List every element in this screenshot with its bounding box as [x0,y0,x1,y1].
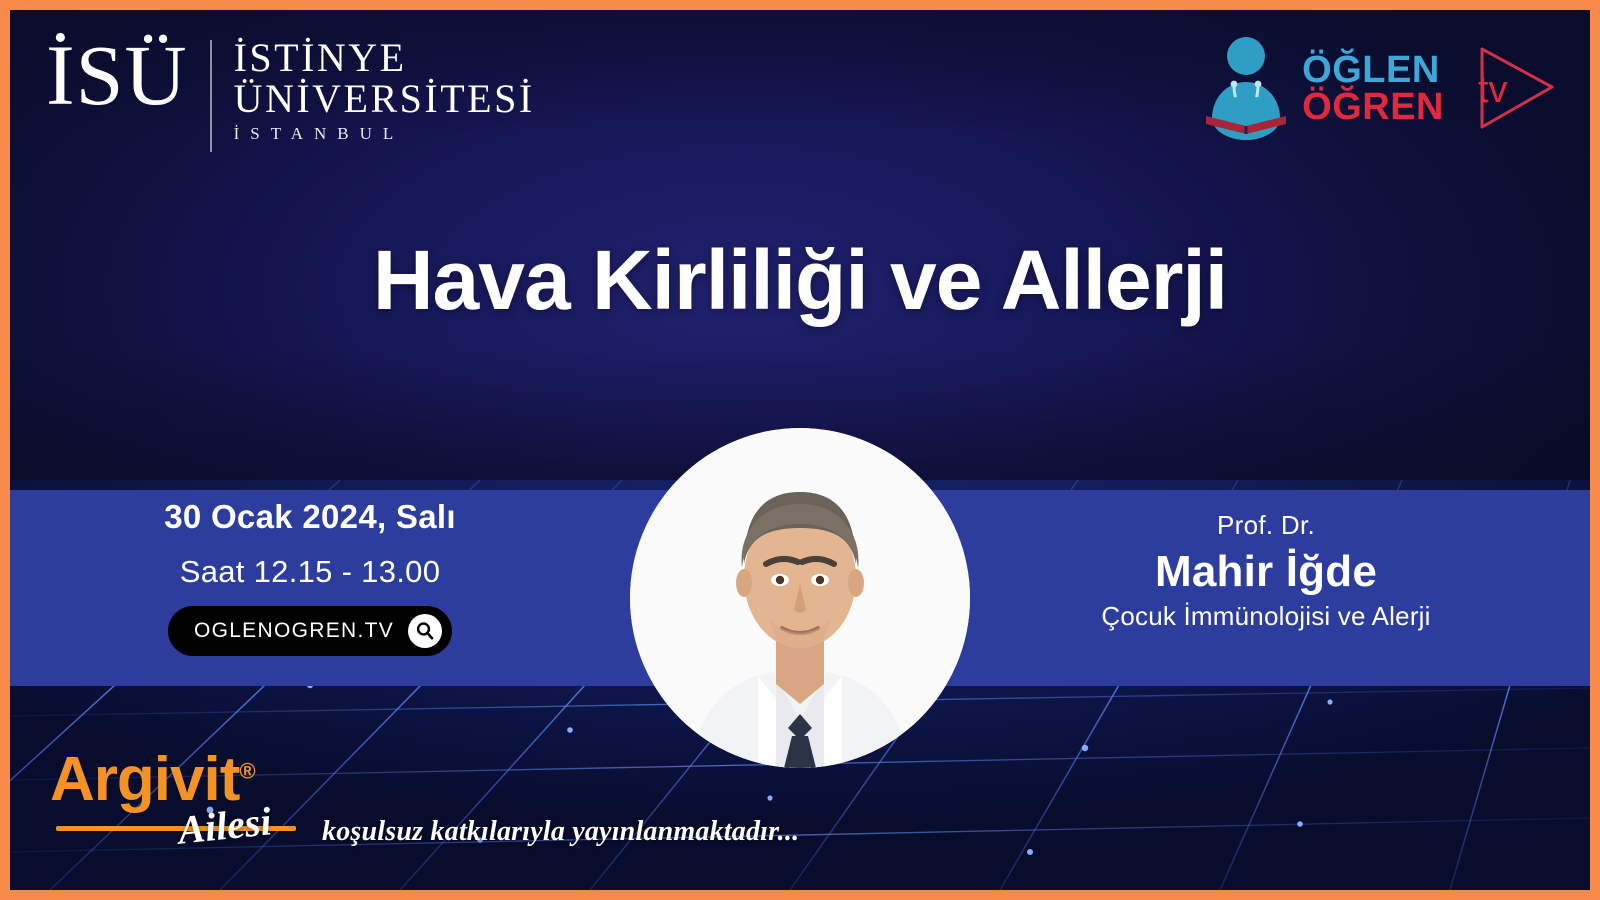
channel-logo: ÖĞLEN ÖĞREN tv [1200,34,1564,144]
speaker-name: Mahir İğde [986,547,1546,597]
channel-name-line1: ÖĞLEN [1302,52,1444,89]
poster-canvas: İSÜ İSTİNYE ÜNİVERSİTESİ İSTANBUL [10,10,1590,890]
sponsor-subtitle: Ailesi [176,797,274,853]
registered-mark-icon: ® [239,758,254,783]
university-name-line2: ÜNİVERSİTESİ [234,79,535,120]
university-name-line1: İSTİNYE [234,38,535,79]
website-label: OGLENOGREN.TV [194,619,394,643]
university-city: İSTANBUL [234,124,535,144]
event-date: 30 Ocak 2024, Salı [10,498,610,536]
university-monogram: İSÜ [46,34,210,117]
website-pill[interactable]: OGLENOGREN.TV [168,606,452,656]
sponsor-tagline: koşulsuz katkılarıyla yayınlanmaktadır..… [322,816,799,848]
doctor-with-book-icon [1200,34,1292,144]
speaker-photo [630,428,970,768]
channel-name-line2: ÖĞREN [1302,89,1444,126]
page-title: Hava Kirliliği ve Allerji [10,232,1590,329]
play-triangle-icon [1456,35,1564,143]
event-poster: İSÜ İSTİNYE ÜNİVERSİTESİ İSTANBUL [0,0,1600,900]
event-schedule: 30 Ocak 2024, Salı Saat 12.15 - 13.00 OG… [10,498,610,656]
tv-play-badge: tv [1456,35,1564,143]
speaker-info: Prof. Dr. Mahir İğde Çocuk İmmünolojisi … [986,510,1546,632]
channel-wordmark: ÖĞLEN ÖĞREN [1302,52,1444,126]
event-time: Saat 12.15 - 13.00 [10,554,610,590]
speaker-department: Çocuk İmmünolojisi ve Alerji [986,601,1546,632]
speaker-title: Prof. Dr. [986,510,1546,541]
university-logo: İSÜ İSTİNYE ÜNİVERSİTESİ İSTANBUL [46,34,535,152]
tv-badge-label: tv [1478,69,1508,112]
search-icon[interactable] [408,614,442,648]
sponsor-logo: Argivit® Ailesi [50,744,350,864]
university-wordmark: İSTİNYE ÜNİVERSİTESİ İSTANBUL [212,34,535,144]
